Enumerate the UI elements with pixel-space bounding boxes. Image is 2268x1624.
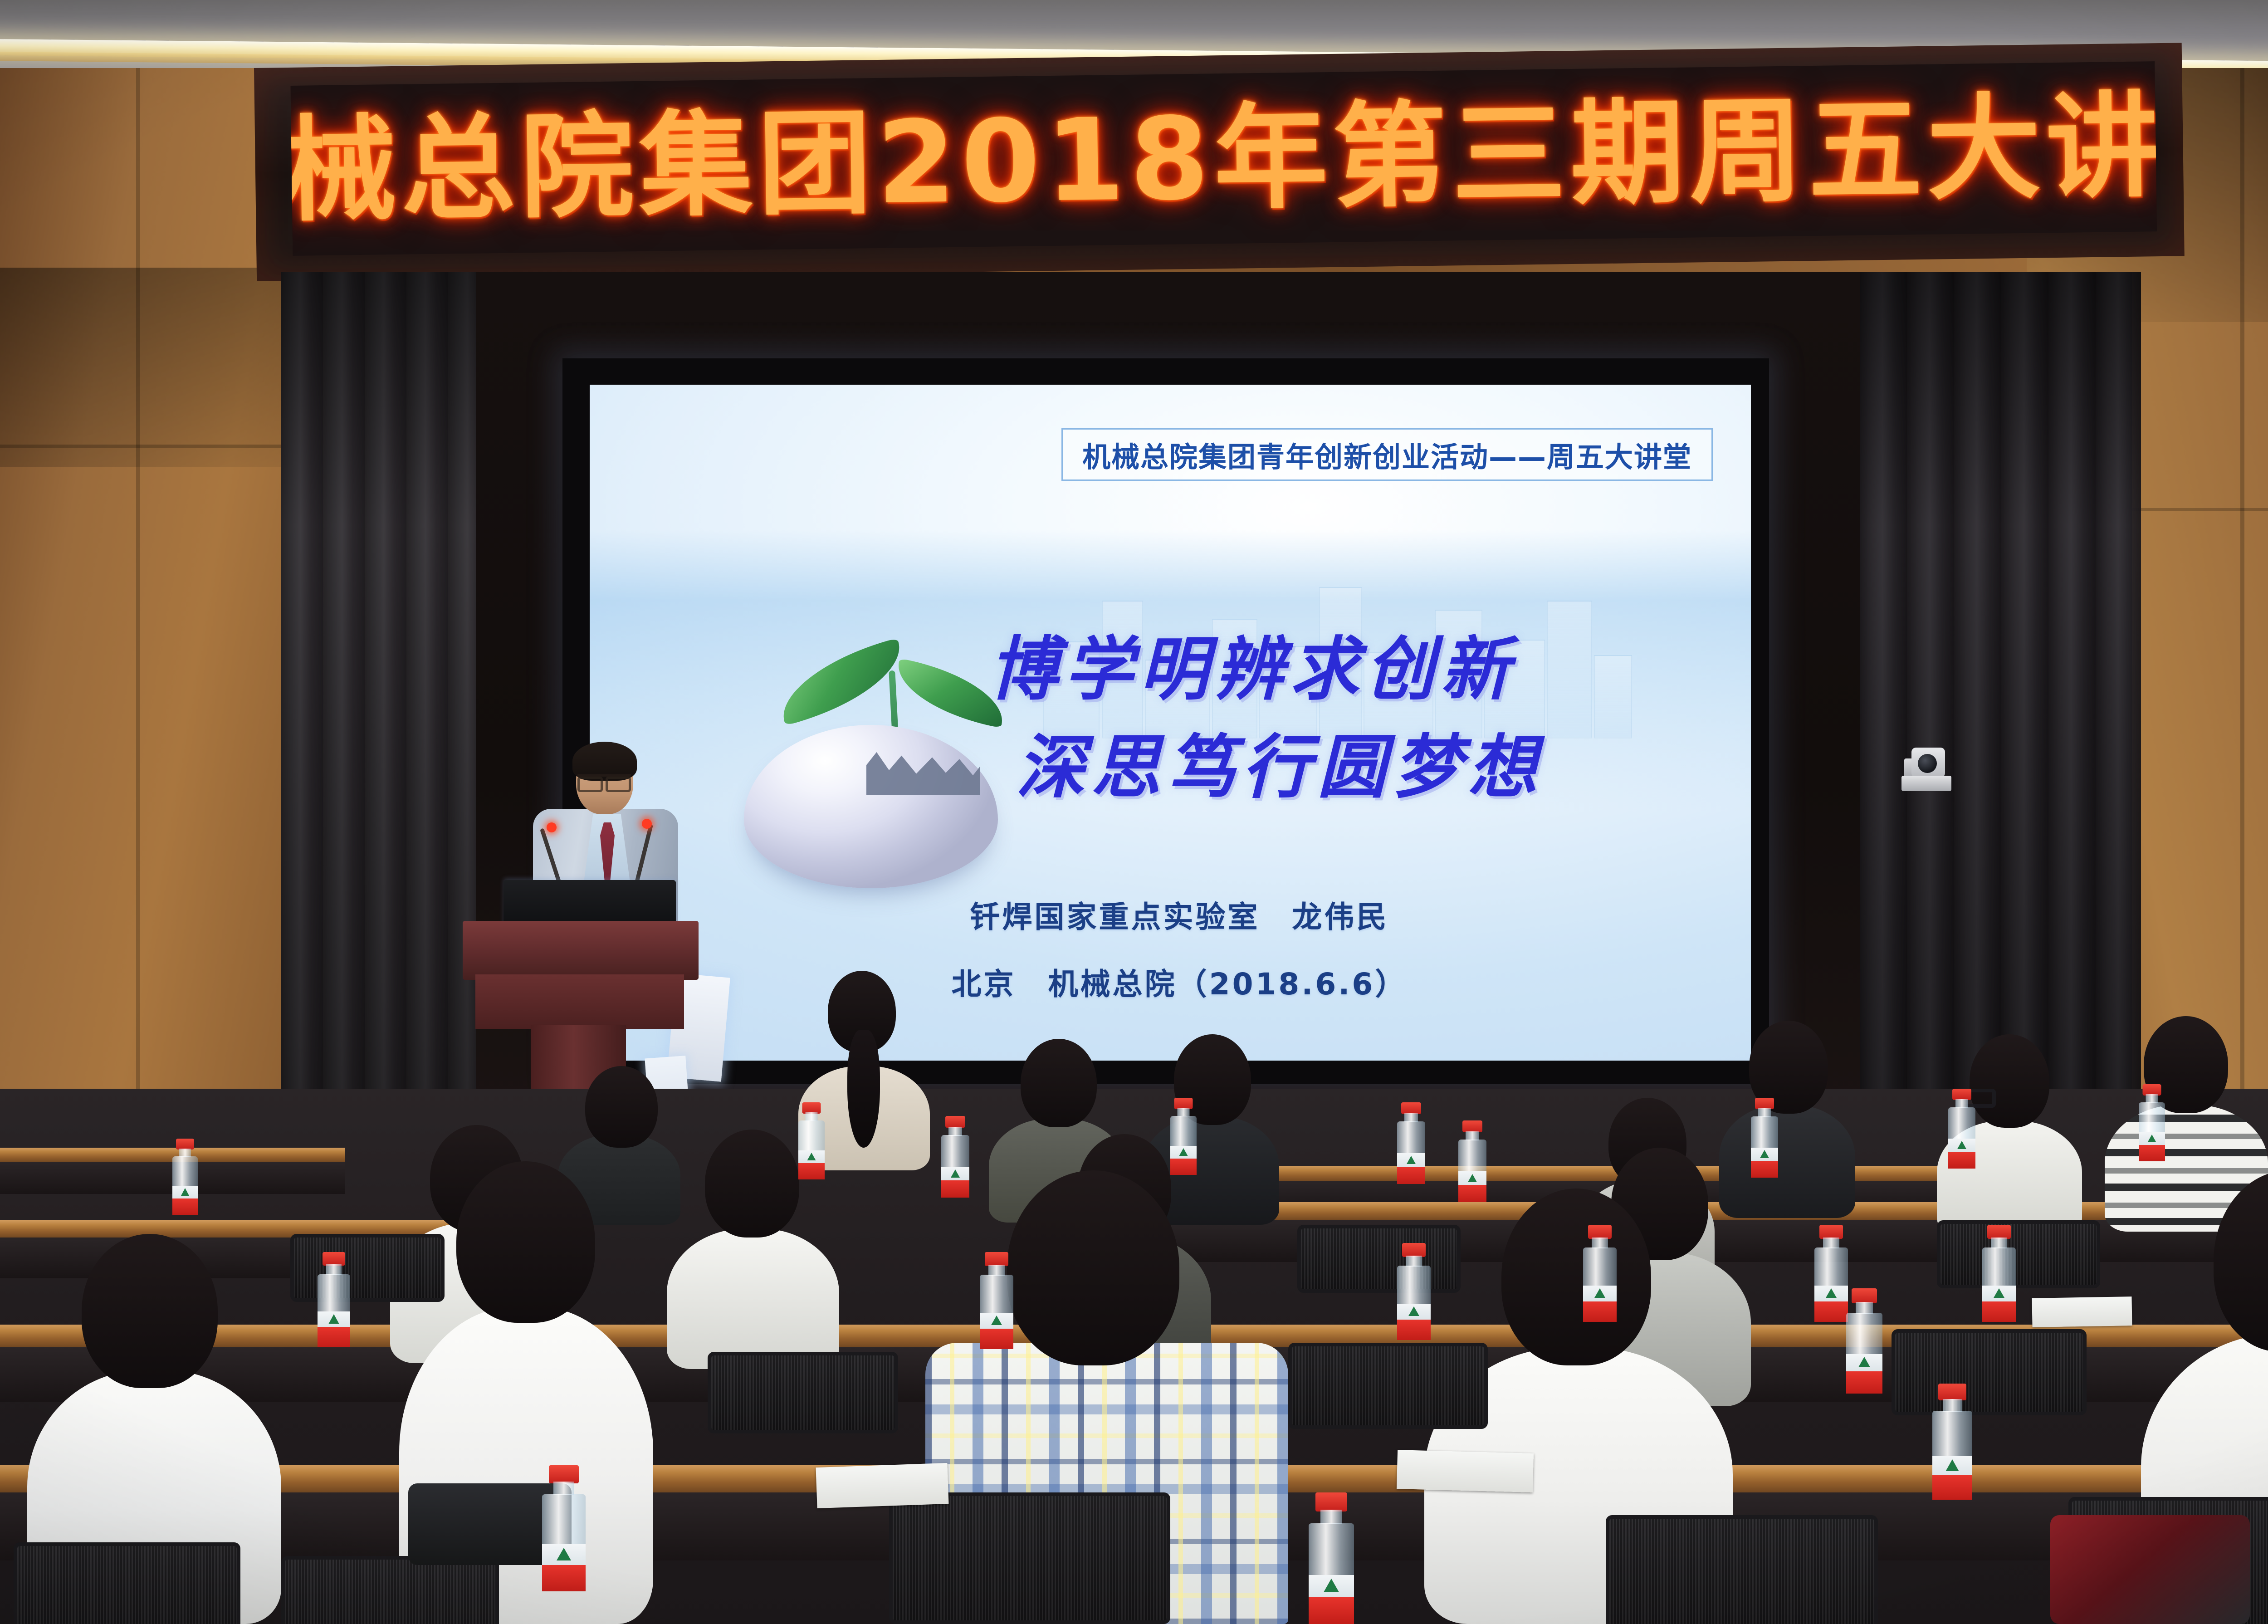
- slide-title-line-1: 博学明辨求创新: [989, 621, 1696, 719]
- chair[interactable]: [290, 1234, 445, 1302]
- person-head: [1021, 1039, 1097, 1127]
- water-bottle[interactable]: [941, 1116, 969, 1198]
- lecture-hall-photo: 机械总院集团2018年第三期周五大讲堂 机械总院集团青年创新创业活动——周五大讲…: [0, 0, 2268, 1624]
- wall-seam-vertical-left: [136, 68, 140, 1157]
- person-head: [705, 1130, 799, 1238]
- ptz-camera-base: [1901, 776, 1951, 791]
- chair[interactable]: [708, 1352, 898, 1433]
- chair[interactable]: [1297, 1225, 1461, 1293]
- water-bottle[interactable]: [1814, 1225, 1848, 1322]
- curtain-right-shade: [1860, 272, 2141, 1116]
- led-banner-text: 机械总院集团2018年第三期周五大讲堂: [291, 88, 2157, 229]
- water-bottle[interactable]: [1309, 1492, 1354, 1624]
- person-head: [82, 1234, 218, 1388]
- led-banner: 机械总院集团2018年第三期周五大讲堂: [254, 43, 2185, 281]
- water-bottle[interactable]: [1170, 1098, 1197, 1175]
- person-head: [1007, 1170, 1179, 1365]
- chair[interactable]: [1892, 1329, 2087, 1415]
- wall-panel-left-shadow: [0, 268, 299, 467]
- water-bottle[interactable]: [1583, 1225, 1617, 1322]
- slide-title-line-2: 深思笃行圆梦想: [1016, 719, 1696, 817]
- chair[interactable]: [1288, 1343, 1488, 1429]
- water-bottle[interactable]: [798, 1102, 825, 1179]
- water-bottle[interactable]: [1932, 1384, 1972, 1500]
- chair[interactable]: [1937, 1220, 2100, 1288]
- person-head: [2214, 1170, 2268, 1352]
- water-bottle[interactable]: [318, 1252, 350, 1347]
- microphone-indicator-left: [547, 822, 557, 832]
- chair[interactable]: [1606, 1515, 1878, 1624]
- wall-panel-left: [0, 68, 299, 1202]
- ptz-camera-icon: [1901, 748, 1951, 791]
- person-body: [667, 1228, 839, 1369]
- wall-seam-left: [0, 445, 308, 448]
- water-bottle[interactable]: [980, 1252, 1013, 1349]
- egg-shell: [744, 725, 998, 888]
- person-ponytail: [847, 1030, 880, 1148]
- water-bottle[interactable]: [1458, 1120, 1486, 1202]
- slide-title: 博学明辨求创新 深思笃行圆梦想: [989, 621, 1696, 817]
- ptz-camera-lens: [1918, 754, 1937, 773]
- water-bottle[interactable]: [1948, 1089, 1975, 1169]
- microphone-indicator-right: [642, 819, 652, 829]
- slide-presenter-line: 钎焊国家重点实验室 龙伟民: [735, 893, 1624, 936]
- water-bottle[interactable]: [1751, 1098, 1778, 1178]
- person-head: [585, 1066, 658, 1148]
- paper-sheet-back-right: [2032, 1296, 2132, 1327]
- backpack-right: [2050, 1515, 2250, 1624]
- paper-sheet-center: [816, 1463, 949, 1508]
- chair[interactable]: [14, 1542, 240, 1624]
- wall-seam-vertical-right: [2240, 68, 2244, 1157]
- led-banner-panel: 机械总院集团2018年第三期周五大讲堂: [291, 61, 2157, 256]
- person-head: [1501, 1189, 1651, 1365]
- speaker-glasses: [577, 774, 631, 788]
- curtain-left-shade: [281, 272, 476, 1116]
- slide-header-text: 机械总院集团青年创新创业活动——周五大讲堂: [1082, 434, 1692, 475]
- water-bottle[interactable]: [542, 1465, 586, 1591]
- water-bottle[interactable]: [1397, 1102, 1425, 1184]
- water-bottle[interactable]: [2139, 1084, 2165, 1161]
- water-bottle[interactable]: [1846, 1288, 1882, 1394]
- chair[interactable]: [889, 1492, 1170, 1624]
- slide-header-box: 机械总院集团青年创新创业活动——周五大讲堂: [1061, 428, 1713, 481]
- slide-egg-sprout-graphic: [717, 621, 1016, 911]
- podium-face: [475, 974, 684, 1029]
- paper-sheet-right: [1397, 1450, 1534, 1492]
- chair[interactable]: [281, 1556, 499, 1624]
- water-bottle[interactable]: [1982, 1225, 2016, 1322]
- projection-screen: 机械总院集团青年创新创业活动——周五大讲堂 博学明辨求创新 深思笃行圆梦想 钎焊…: [590, 385, 1751, 1061]
- podium-top: [463, 921, 699, 980]
- person-head: [456, 1161, 595, 1323]
- person-head: [1970, 1034, 2049, 1128]
- water-bottle[interactable]: [1397, 1243, 1431, 1340]
- water-bottle[interactable]: [172, 1139, 198, 1215]
